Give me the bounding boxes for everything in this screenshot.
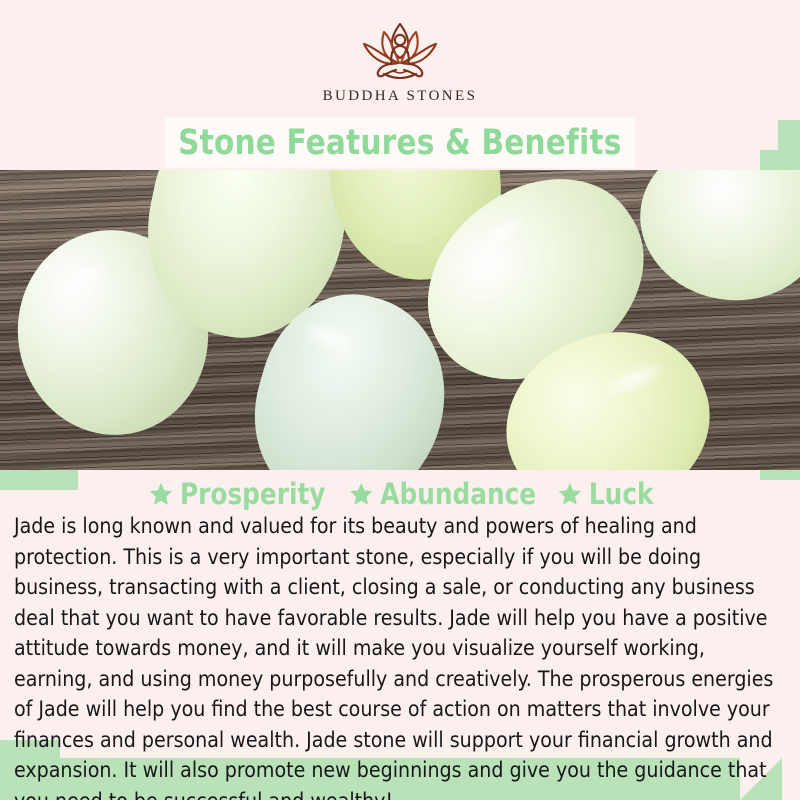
- brand-logo: BUDDHA STONES: [0, 18, 800, 118]
- page-title: Stone Features & Benefits: [178, 123, 621, 163]
- keyword-item: Abundance: [349, 477, 536, 511]
- keyword-label: Abundance: [380, 477, 536, 511]
- brand-name: BUDDHA STONES: [323, 88, 478, 105]
- title-banner: Stone Features & Benefits: [165, 118, 635, 168]
- keyword-list: Prosperity Abundance Luck: [0, 477, 800, 511]
- keyword-item: Prosperity: [149, 477, 326, 511]
- keyword-item: Luck: [558, 477, 654, 511]
- stone-info-poster: BUDDHA STONES Stone Features & Benefits …: [0, 0, 800, 800]
- star-icon: [558, 481, 583, 507]
- stone-photo: Jade: [0, 170, 800, 470]
- star-icon: [349, 481, 374, 507]
- lotus-meditation-icon: [336, 18, 464, 82]
- keyword-label: Luck: [589, 477, 654, 511]
- stone-description: Jade is long known and valued for its be…: [14, 512, 774, 800]
- star-icon: [149, 481, 174, 507]
- keyword-label: Prosperity: [180, 477, 325, 511]
